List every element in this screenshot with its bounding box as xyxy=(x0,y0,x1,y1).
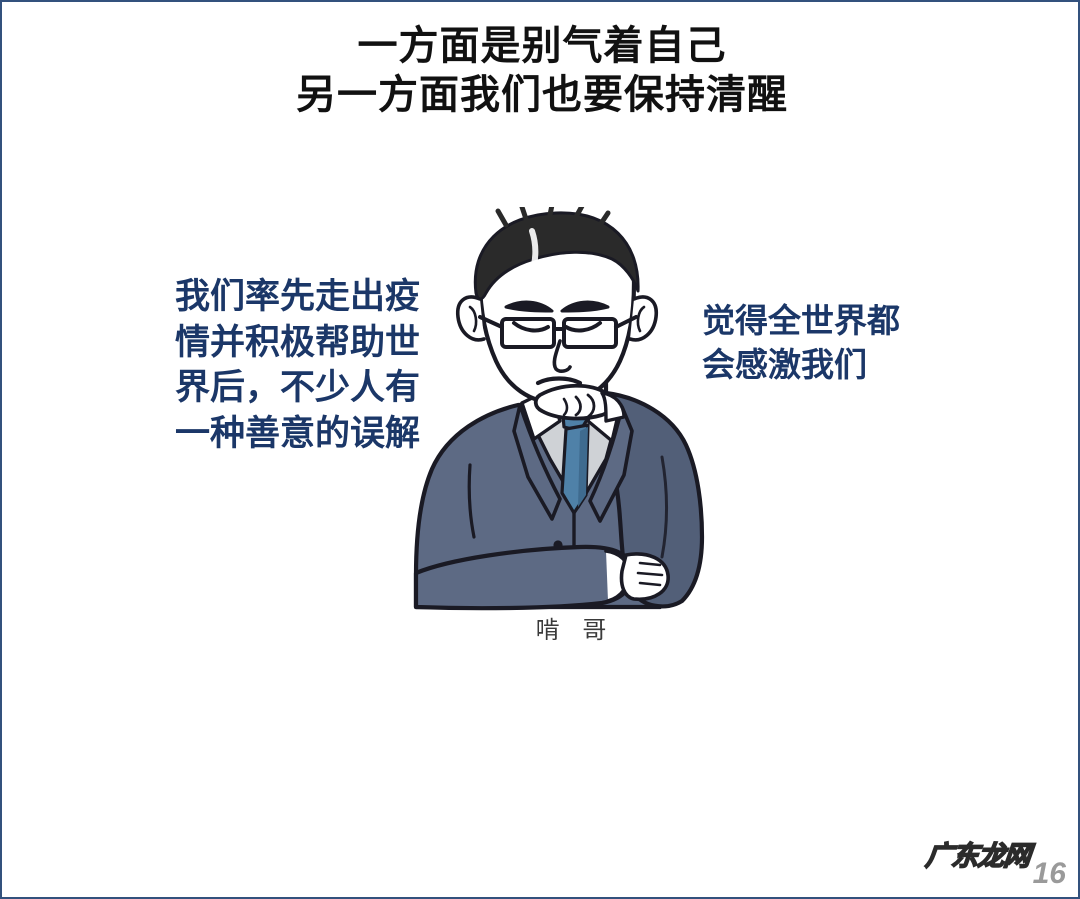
right-callout-line-1: 觉得全世界都 xyxy=(702,299,982,343)
businessman-figure-icon xyxy=(410,207,740,612)
left-callout-line-3: 界后，不少人有 xyxy=(90,365,420,411)
figure-caption: 啃 哥 xyxy=(410,610,740,645)
slide-canvas: 一方面是别气着自己 另一方面我们也要保持清醒 我们率先走出疫 情并积极帮助世 界… xyxy=(0,0,1080,899)
page-number: 16 xyxy=(1033,857,1066,891)
left-callout-line-1: 我们率先走出疫 xyxy=(90,274,420,320)
title-line-1: 一方面是别气着自己 xyxy=(2,22,1080,71)
right-callout-line-2: 会感激我们 xyxy=(702,343,982,387)
slide-title: 一方面是别气着自己 另一方面我们也要保持清醒 xyxy=(2,22,1080,120)
right-callout-text: 觉得全世界都 会感激我们 xyxy=(702,299,982,387)
title-line-2: 另一方面我们也要保持清醒 xyxy=(2,71,1080,120)
left-callout-line-2: 情并积极帮助世 xyxy=(90,320,420,366)
left-callout-text: 我们率先走出疫 情并积极帮助世 界后，不少人有 一种善意的误解 xyxy=(90,274,420,456)
left-callout-line-4: 一种善意的误解 xyxy=(90,411,420,457)
thinking-businessman-illustration xyxy=(410,207,740,612)
site-watermark: 广东龙网 xyxy=(924,834,1032,873)
